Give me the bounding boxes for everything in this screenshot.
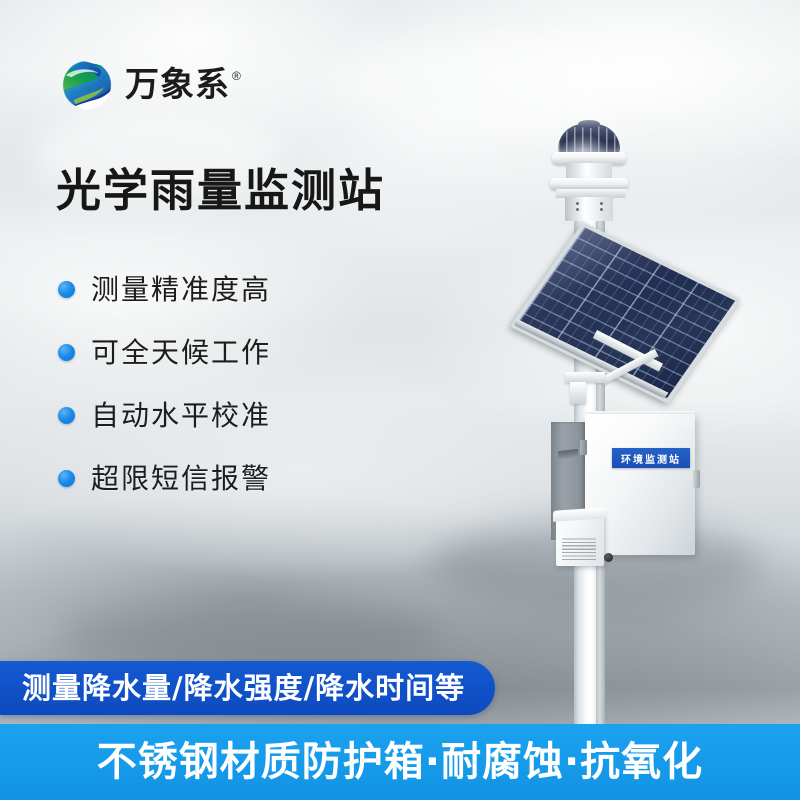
dome-cap bbox=[578, 120, 600, 128]
feature-label: 超限短信报警 bbox=[91, 465, 271, 493]
list-item: 可全天候工作 bbox=[58, 321, 388, 384]
feature-list: 测量精准度高 可全天候工作 自动水平校准 超限短信报警 bbox=[58, 258, 388, 510]
swirling-globe-icon bbox=[58, 58, 116, 112]
bottom-bar-label: 不锈钢材质防护箱·耐腐蚀·抗氧化 bbox=[97, 742, 703, 782]
bullet-dot-icon bbox=[58, 407, 75, 424]
sensor-bolt bbox=[600, 202, 603, 205]
brand-name: 万象系 bbox=[125, 68, 230, 102]
feature-label: 可全天候工作 bbox=[91, 339, 271, 367]
list-item: 超限短信报警 bbox=[58, 447, 388, 510]
pill-banner: 测量降水量/降水强度/降水时间等 bbox=[0, 661, 495, 715]
trademark-symbol: ® bbox=[232, 69, 241, 83]
advertisement-banner: 环境监测站 bbox=[0, 0, 800, 800]
sensor-bolt bbox=[576, 202, 579, 205]
brand-wordmark: 万象系 ® bbox=[125, 68, 241, 102]
bullet-dot-icon bbox=[58, 344, 75, 361]
feature-label: 自动水平校准 bbox=[91, 402, 271, 430]
list-item: 自动水平校准 bbox=[58, 384, 388, 447]
cabinet-drain-plug bbox=[604, 553, 613, 562]
cabinet-label-plate: 环境监测站 bbox=[612, 448, 690, 468]
cabinet-label-text: 环境监测站 bbox=[621, 451, 681, 466]
list-item: 测量精准度高 bbox=[58, 258, 388, 321]
feature-label: 测量精准度高 bbox=[91, 276, 271, 304]
dome-ribs bbox=[558, 126, 620, 154]
cabinet-hinge bbox=[580, 440, 587, 455]
sensor-bolt bbox=[576, 208, 579, 211]
bullet-dot-icon bbox=[58, 281, 75, 298]
bullet-dot-icon bbox=[58, 470, 75, 487]
cabinet-latch bbox=[693, 470, 700, 488]
bottom-bar: 不锈钢材质防护箱·耐腐蚀·抗氧化 bbox=[0, 724, 800, 800]
panel-mount-collar bbox=[570, 382, 586, 404]
pill-banner-label: 测量降水量/降水强度/降水时间等 bbox=[22, 674, 465, 703]
brand-logo: 万象系 ® bbox=[58, 58, 241, 112]
junction-box-grill bbox=[562, 538, 596, 560]
sensor-bolt bbox=[600, 208, 603, 211]
page-title: 光学雨量监测站 bbox=[56, 168, 385, 213]
sensor-body bbox=[565, 197, 613, 221]
